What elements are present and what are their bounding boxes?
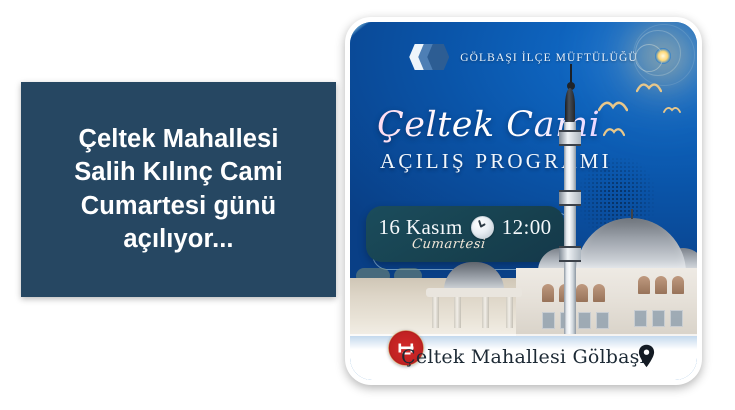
mosque-arch-row [638,276,684,294]
hexagon-layers-icon [409,44,453,72]
poster-footer: Çeltek Mahallesi Gölbaşı [350,334,697,380]
headline-box: Çeltek Mahallesi Salih Kılınç Cami Cumar… [21,82,336,297]
organization-name: GÖLBAŞI İLÇE MÜFTÜLÜĞÜ [460,52,638,64]
headline-text: Çeltek Mahallesi Salih Kılınç Cami Cumar… [74,123,283,256]
minaret-icon [553,64,587,332]
event-weekday: Cumartesi [411,237,486,252]
bird-icon [636,82,662,94]
bird-icon [598,100,628,112]
mosque-main-dome [576,218,686,274]
event-poster[interactable]: GÖLBAŞI İLÇE MÜFTÜLÜĞÜ Çeltek Cami AÇILI… [345,17,702,385]
clock-icon [471,216,494,239]
mosque-icon [500,218,697,336]
bird-icon [603,127,625,139]
page-canvas: Çeltek Mahallesi Salih Kılınç Cami Cumar… [0,0,735,410]
mosque-pavilion [426,262,522,328]
organization-logo-row: GÖLBAŞI İLÇE MÜFTÜLÜĞÜ [350,44,697,72]
poster-artwork: GÖLBAŞI İLÇE MÜFTÜLÜĞÜ Çeltek Cami AÇILI… [350,22,697,380]
bird-icon [663,106,681,118]
